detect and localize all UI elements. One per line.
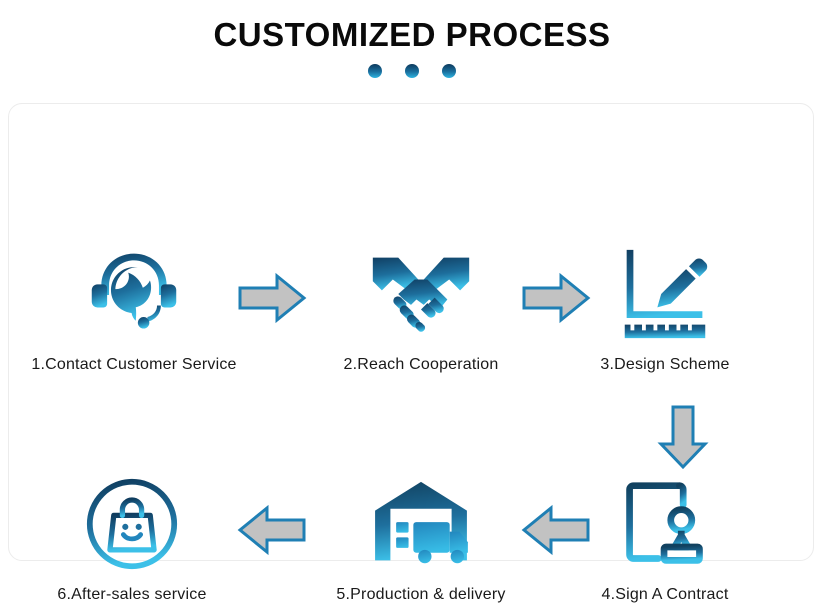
process-step-4-label: 4.Sign A Contract xyxy=(550,586,780,604)
arrow-step3-to-step4 xyxy=(657,404,709,470)
arrow-step1-to-step2 xyxy=(237,272,307,324)
title-dot-3 xyxy=(442,64,456,78)
process-step-5[interactable]: 5.Production & delivery xyxy=(306,474,536,604)
title-dot-2 xyxy=(405,64,419,78)
handshake-icon xyxy=(306,244,536,344)
ruler-pencil-icon xyxy=(550,244,780,344)
process-infographic: CUSTOMIZED PROCESS xyxy=(0,0,824,572)
process-card: 1.Contact Customer Service xyxy=(8,103,814,561)
process-step-1[interactable]: 1.Contact Customer Service xyxy=(19,244,249,374)
shopping-bag-smile-icon xyxy=(17,474,247,574)
process-step-3-label: 3.Design Scheme xyxy=(550,356,780,374)
process-step-2-label: 2.Reach Cooperation xyxy=(306,356,536,374)
page-title: CUSTOMIZED PROCESS xyxy=(0,16,824,54)
process-step-5-label: 5.Production & delivery xyxy=(306,586,536,604)
process-step-3[interactable]: 3.Design Scheme xyxy=(550,244,780,374)
process-step-1-label: 1.Contact Customer Service xyxy=(19,356,249,374)
process-step-6[interactable]: 6.After-sales service xyxy=(17,474,247,604)
arrow-step5-to-step6 xyxy=(237,504,307,556)
warehouse-truck-icon xyxy=(306,474,536,574)
process-step-6-label: 6.After-sales service xyxy=(17,586,247,604)
process-step-2[interactable]: 2.Reach Cooperation xyxy=(306,244,536,374)
title-dot-1 xyxy=(368,64,382,78)
title-dots xyxy=(0,64,824,78)
headset-support-icon xyxy=(19,244,249,344)
